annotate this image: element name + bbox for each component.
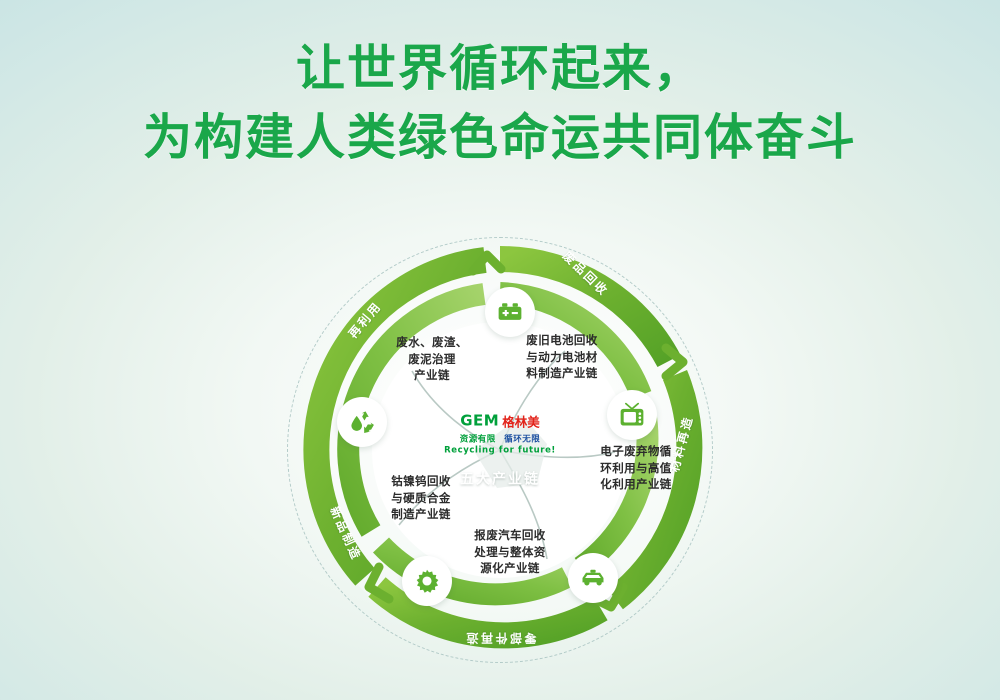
car-icon (579, 564, 607, 592)
gear-icon-node[interactable] (402, 556, 452, 606)
brand-latin: GEM (460, 414, 499, 429)
title-line-1: 让世界循环起来， (0, 38, 1000, 101)
slogan-right: 循环无限 (504, 434, 540, 444)
battery-icon-node[interactable] (485, 287, 535, 337)
tv-icon (618, 401, 646, 429)
segment-label-end-of-life-vehicle: 报废汽车回收 处理与整体资 源化产业链 (458, 527, 562, 577)
tv-icon-node[interactable] (607, 390, 657, 440)
center-logo: GEM 格林美 资源有限 循环无限 Recycling for future! … (440, 412, 560, 489)
gear-icon (413, 567, 441, 595)
five-industry-chains-label: 五大产业链 (440, 469, 560, 489)
water-recycle-icon (347, 407, 377, 437)
segment-label-waste-water-slag-sludge: 废水、废渣、 废泥治理 产业链 (378, 334, 486, 384)
circular-economy-diagram: 废旧电池回收 与动力电池材 料制造产业链 电子废弃物循 环利用与高值 化利用产业… (285, 215, 715, 685)
battery-icon (496, 298, 524, 326)
water-recycle-icon-node[interactable] (337, 397, 387, 447)
brand-chinese: 格林美 (502, 412, 540, 431)
slogan-left: 资源有限 (460, 434, 496, 444)
segment-label-battery: 废旧电池回收 与动力电池材 料制造产业链 (509, 332, 615, 382)
poster-canvas: 让世界循环起来， 为构建人类绿色命运共同体奋斗 (0, 0, 1000, 700)
logo-tagline: Recycling for future! (440, 446, 560, 456)
logo-brand-row: GEM 格林美 (440, 412, 560, 431)
logo-slogan-row: 资源有限 循环无限 (440, 433, 560, 445)
car-icon-node[interactable] (568, 553, 618, 603)
page-title: 让世界循环起来， 为构建人类绿色命运共同体奋斗 (0, 38, 1000, 169)
title-line-2: 为构建人类绿色命运共同体奋斗 (0, 107, 1000, 170)
ring-label-parts-remake: 零部件再造 (464, 630, 537, 647)
